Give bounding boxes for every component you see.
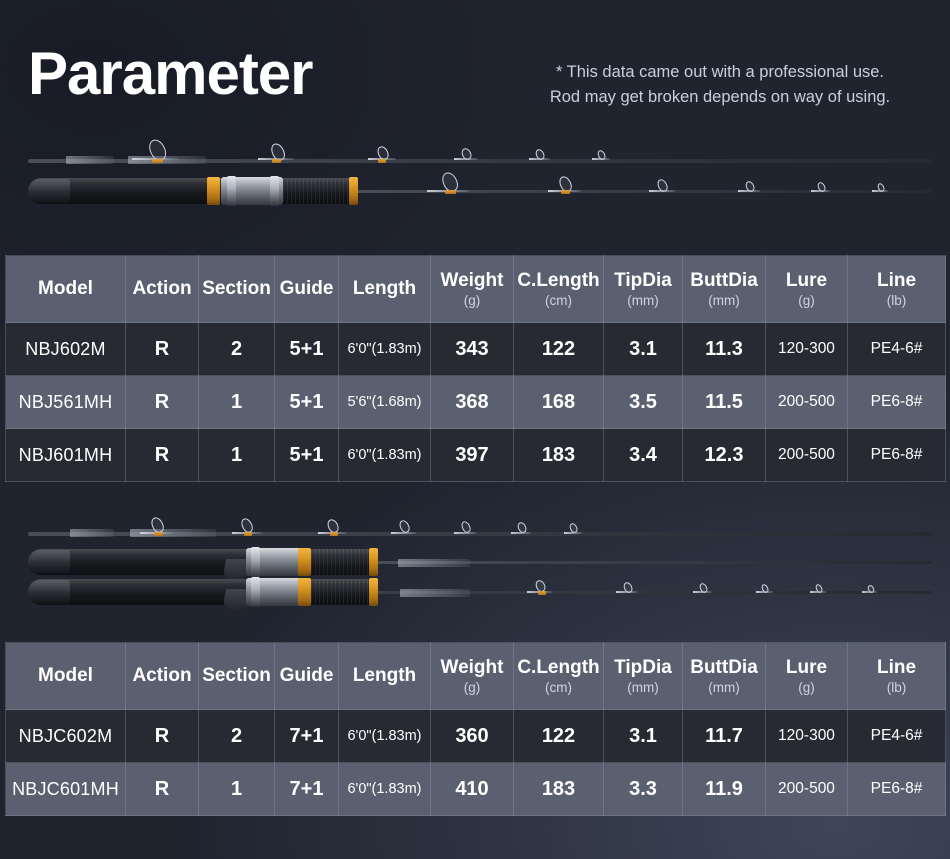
- column-header-weight: Weight(g): [431, 256, 514, 323]
- cell-action: R: [126, 429, 199, 482]
- cell-model: NBJ561MH: [6, 376, 126, 429]
- cell-action: R: [126, 376, 199, 429]
- thread-wrap: [445, 190, 456, 194]
- cell-guide: 7+1: [275, 710, 339, 763]
- cell-buttdia: 11.3: [683, 323, 766, 376]
- cell-buttdia: 11.7: [683, 710, 766, 763]
- gold-accent-band: [207, 177, 220, 205]
- cell-length: 6'0"(1.83m): [339, 710, 431, 763]
- guide-foot: [756, 591, 773, 593]
- cell-tipdia: 3.1: [604, 323, 683, 376]
- cell-guide: 5+1: [275, 323, 339, 376]
- reel-seat-ring: [270, 176, 279, 206]
- thread-wrap: [561, 190, 570, 194]
- thread-wrap: [154, 532, 163, 536]
- guide-foot: [592, 158, 610, 160]
- thread-wrap: [378, 159, 386, 163]
- cell-clength: 122: [514, 710, 604, 763]
- rod-model-print: [398, 559, 470, 567]
- cell-section: 1: [199, 429, 275, 482]
- reel-seat-ring: [251, 577, 260, 607]
- cell-buttdia: 11.9: [683, 763, 766, 816]
- column-header-line: Line(lb): [848, 643, 946, 710]
- guide-foot: [872, 190, 888, 192]
- column-header-action: Action: [126, 643, 199, 710]
- cell-section: 2: [199, 323, 275, 376]
- column-header-tipdia: TipDia(mm): [604, 256, 683, 323]
- spinning-rod-images: [0, 140, 950, 248]
- cell-clength: 122: [514, 323, 604, 376]
- rod-logo-mark: [66, 156, 114, 164]
- table-row: NBJC602M R 2 7+1 6'0"(1.83m) 360 122 3.1…: [6, 710, 946, 763]
- column-header-lure: Lure(g): [766, 256, 848, 323]
- table-header-row: Model Action Section Guide Length Weight…: [6, 256, 946, 323]
- guide-foot: [862, 591, 877, 593]
- table-row: NBJ561MH R 1 5+1 5'6"(1.68m) 368 168 3.5…: [6, 376, 946, 429]
- column-header-buttdia: ButtDia(mm): [683, 643, 766, 710]
- cell-tipdia: 3.1: [604, 710, 683, 763]
- cell-tipdia: 3.5: [604, 376, 683, 429]
- cell-lure: 200-500: [766, 376, 848, 429]
- disclaimer-line-2: Rod may get broken depends on way of usi…: [505, 85, 935, 110]
- column-header-line: Line(lb): [848, 256, 946, 323]
- cell-model: NBJC601MH: [6, 763, 126, 816]
- column-header-section: Section: [199, 643, 275, 710]
- rod-fore-grip: [311, 579, 371, 605]
- guide-foot: [391, 532, 416, 534]
- thread-wrap: [244, 532, 252, 536]
- table-row: NBJ601MH R 1 5+1 6'0"(1.83m) 397 183 3.4…: [6, 429, 946, 482]
- rod-butt-cap: [28, 550, 70, 574]
- cell-line: PE6-8#: [848, 763, 946, 816]
- cell-clength: 168: [514, 376, 604, 429]
- cell-weight: 343: [431, 323, 514, 376]
- guide-foot: [649, 190, 675, 192]
- disclaimer-line-1: * This data came out with a professional…: [505, 60, 935, 85]
- cell-weight: 410: [431, 763, 514, 816]
- cell-lure: 200-500: [766, 429, 848, 482]
- cell-weight: 368: [431, 376, 514, 429]
- cell-line: PE6-8#: [848, 376, 946, 429]
- guide-foot: [810, 591, 826, 593]
- cell-length: 6'0"(1.83m): [339, 323, 431, 376]
- cell-action: R: [126, 763, 199, 816]
- guide-foot: [564, 532, 582, 534]
- column-header-length: Length: [339, 643, 431, 710]
- rod-butt-cap: [28, 179, 70, 203]
- guide-foot: [454, 158, 478, 160]
- cell-action: R: [126, 323, 199, 376]
- guide-foot: [693, 591, 712, 593]
- disclaimer-note: * This data came out with a professional…: [505, 60, 935, 110]
- cell-tipdia: 3.4: [604, 429, 683, 482]
- casting-rod-images: [0, 515, 950, 625]
- spec-table-spinning: Model Action Section Guide Length Weight…: [5, 255, 946, 482]
- cell-lure: 120-300: [766, 323, 848, 376]
- column-header-length: Length: [339, 256, 431, 323]
- spec-table-casting: Model Action Section Guide Length Weight…: [5, 642, 946, 816]
- cell-weight: 360: [431, 710, 514, 763]
- cell-length: 6'0"(1.83m): [339, 429, 431, 482]
- gold-accent-band: [369, 578, 378, 606]
- gold-accent-band: [369, 548, 378, 576]
- cell-buttdia: 11.5: [683, 376, 766, 429]
- gold-accent-band: [298, 578, 311, 606]
- rod-fore-grip: [283, 178, 351, 204]
- column-header-clength: C.Length(cm): [514, 643, 604, 710]
- column-header-buttdia: ButtDia(mm): [683, 256, 766, 323]
- cell-lure: 120-300: [766, 710, 848, 763]
- cell-model: NBJC602M: [6, 710, 126, 763]
- column-header-guide: Guide: [275, 256, 339, 323]
- page-header: Parameter * This data came out with a pr…: [0, 0, 950, 132]
- spinning-rod-handle-section: [0, 172, 950, 210]
- cell-length: 6'0"(1.83m): [339, 763, 431, 816]
- rod-fore-grip: [311, 549, 371, 575]
- cell-line: PE6-8#: [848, 429, 946, 482]
- table-row: NBJC601MH R 1 7+1 6'0"(1.83m) 410 183 3.…: [6, 763, 946, 816]
- cell-clength: 183: [514, 429, 604, 482]
- cell-lure: 200-500: [766, 763, 848, 816]
- column-header-clength: C.Length(cm): [514, 256, 604, 323]
- cell-model: NBJ602M: [6, 323, 126, 376]
- rod-butt-cap: [28, 580, 70, 604]
- casting-rod-lower-tip: [0, 573, 950, 611]
- cell-length: 5'6"(1.68m): [339, 376, 431, 429]
- cell-guide: 5+1: [275, 429, 339, 482]
- gold-accent-band: [349, 177, 358, 205]
- cell-line: PE4-6#: [848, 323, 946, 376]
- rod-model-print: [400, 589, 470, 597]
- thread-wrap: [272, 159, 281, 163]
- reel-seat-ring: [227, 176, 236, 206]
- guide-foot: [529, 158, 550, 160]
- guide-foot: [454, 532, 476, 534]
- column-header-tipdia: TipDia(mm): [604, 643, 683, 710]
- column-header-section: Section: [199, 256, 275, 323]
- cell-line: PE4-6#: [848, 710, 946, 763]
- table-row: NBJ602M R 2 5+1 6'0"(1.83m) 343 122 3.1 …: [6, 323, 946, 376]
- guide-foot: [738, 190, 760, 192]
- cell-action: R: [126, 710, 199, 763]
- guide-foot: [511, 532, 531, 534]
- column-header-model: Model: [6, 643, 126, 710]
- guide-foot: [616, 591, 638, 593]
- page-title: Parameter: [28, 44, 313, 104]
- cell-tipdia: 3.3: [604, 763, 683, 816]
- column-header-model: Model: [6, 256, 126, 323]
- thread-wrap: [152, 159, 163, 163]
- cell-guide: 7+1: [275, 763, 339, 816]
- rod-logo-mark: [70, 529, 114, 537]
- guide-foot: [811, 190, 830, 192]
- parameter-spec-page: Parameter * This data came out with a pr…: [0, 0, 950, 859]
- table-header-row: Model Action Section Guide Length Weight…: [6, 643, 946, 710]
- column-header-lure: Lure(g): [766, 643, 848, 710]
- cell-buttdia: 12.3: [683, 429, 766, 482]
- thread-wrap: [330, 532, 338, 536]
- cell-guide: 5+1: [275, 376, 339, 429]
- cell-section: 1: [199, 376, 275, 429]
- cell-section: 1: [199, 763, 275, 816]
- cell-clength: 183: [514, 763, 604, 816]
- cell-section: 2: [199, 710, 275, 763]
- gold-accent-band: [298, 548, 311, 576]
- column-header-action: Action: [126, 256, 199, 323]
- column-header-weight: Weight(g): [431, 643, 514, 710]
- cell-model: NBJ601MH: [6, 429, 126, 482]
- cell-weight: 397: [431, 429, 514, 482]
- column-header-guide: Guide: [275, 643, 339, 710]
- thread-wrap: [538, 591, 546, 595]
